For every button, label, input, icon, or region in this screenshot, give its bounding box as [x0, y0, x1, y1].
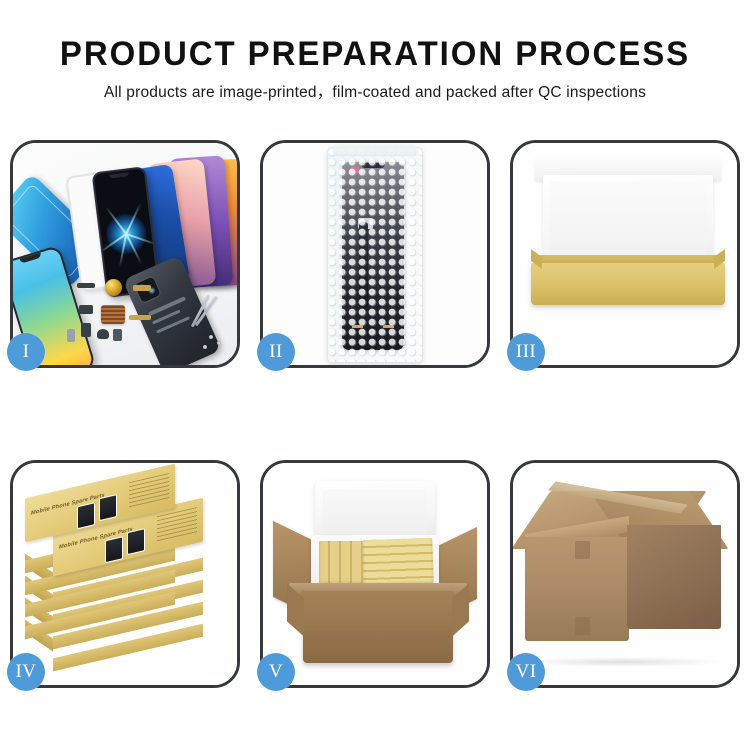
carton-body-icon: [303, 591, 453, 663]
page-title: PRODUCT PREPARATION PROCESS: [11, 0, 739, 72]
yellow-boxes-row-icon: [362, 538, 434, 586]
flex-cable-icon: [129, 315, 151, 320]
step-image-3: [513, 143, 737, 365]
bubble-bag: [327, 147, 423, 363]
taptic-engine-icon: [97, 329, 109, 339]
sealed-carton-illustration: [513, 463, 737, 685]
carton-front-face-icon: [525, 537, 629, 641]
screw-icon: [203, 345, 207, 349]
foam-lid-icon: [315, 481, 435, 543]
flex-cable-icon: [133, 285, 151, 291]
step-badge-4: IV: [7, 653, 45, 691]
spare-part-icon: [79, 305, 93, 314]
step-image-1: [13, 143, 237, 365]
step-badge-6: VI: [507, 653, 545, 691]
phone-print-icon: [77, 502, 95, 529]
step-image-6: [513, 463, 737, 685]
header: PRODUCT PREPARATION PROCESS All products…: [0, 0, 750, 102]
stacked-boxes-illustration: Mobile Phone Spare Parts Mobile Phone Sp…: [13, 463, 237, 685]
yellow-box-front-icon: [531, 263, 725, 305]
box-stack: Mobile Phone Spare Parts Mobile Phone Sp…: [19, 481, 235, 671]
step-badge-3: III: [507, 333, 545, 371]
notch-icon: [19, 252, 42, 263]
bag-seal-icon: [333, 144, 417, 156]
bubble-wrap-texture-icon: [328, 148, 422, 362]
step-badge-1: I: [7, 333, 45, 371]
screw-icon: [217, 341, 221, 345]
carton-side-face-icon: [627, 525, 721, 629]
copper-mesh-icon: [101, 305, 125, 324]
bubble-wrapped-screen-illustration: [263, 143, 487, 365]
phone-parts-lineup-illustration: [13, 143, 237, 365]
speaker-coil-icon: [105, 279, 122, 296]
carton-tab-icon: [575, 617, 590, 635]
sim-tray-icon: [67, 329, 75, 342]
phone-print-icon: [99, 494, 117, 521]
step-badge-5: V: [257, 653, 295, 691]
step-image-2: [263, 143, 487, 365]
phone-print-icon: [127, 528, 145, 555]
step-panel-3[interactable]: III: [510, 140, 740, 368]
carton-tab-icon: [575, 541, 590, 559]
step-panel-6[interactable]: VI: [510, 460, 740, 688]
step-panel-1[interactable]: I: [10, 140, 240, 368]
foam-lined-box-illustration: [513, 143, 737, 365]
open-carton-illustration: [263, 463, 487, 685]
step-panel-4[interactable]: Mobile Phone Spare Parts Mobile Phone Sp…: [10, 460, 240, 688]
notch-icon: [109, 172, 129, 178]
step-image-5: [263, 463, 487, 685]
spare-part-icon: [77, 283, 95, 288]
step-panel-2[interactable]: II: [260, 140, 490, 368]
bubble-bag-body: [327, 147, 423, 363]
spare-part-icon: [81, 323, 91, 337]
carton-shadow: [523, 657, 723, 667]
step-badge-2: II: [257, 333, 295, 371]
box-spec-lines-icon: [157, 507, 197, 542]
page-subtitle: All products are image-printed，film-coat…: [0, 72, 750, 102]
step-panel-5[interactable]: V: [260, 460, 490, 688]
box-spec-lines-icon: [129, 473, 169, 508]
white-foam-sheet-icon: [543, 175, 713, 267]
battery-connector-icon: [113, 329, 122, 341]
board-trace-icon: [148, 296, 186, 316]
screw-icon: [209, 335, 213, 339]
step-image-4: Mobile Phone Spare Parts Mobile Phone Sp…: [13, 463, 237, 685]
steps-grid: I: [10, 140, 740, 695]
product-preparation-infographic: PRODUCT PREPARATION PROCESS All products…: [0, 0, 750, 750]
phone-print-icon: [105, 536, 123, 563]
